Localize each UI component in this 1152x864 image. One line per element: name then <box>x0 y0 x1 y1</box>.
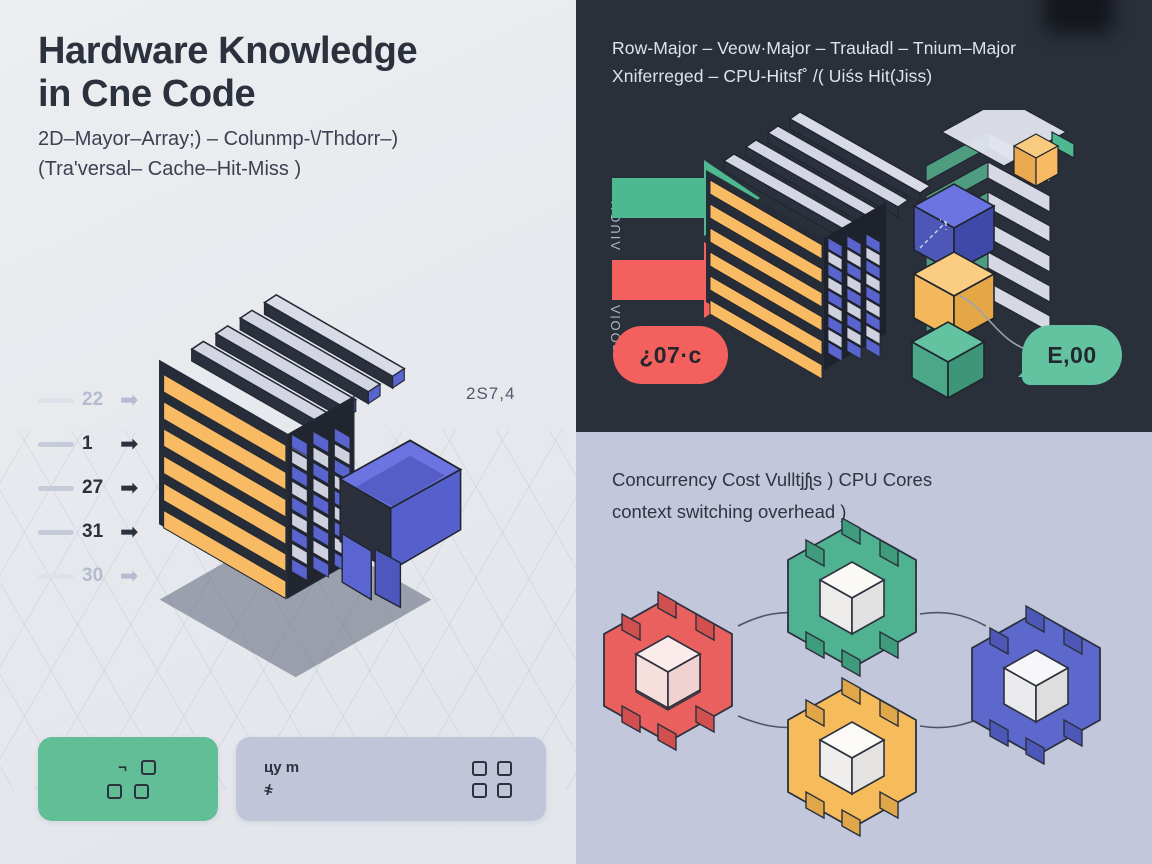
pill-box-icon <box>141 760 156 775</box>
pill-box-icon <box>472 761 487 776</box>
dashed-pointer <box>912 200 982 270</box>
right-arrow-icon: ➡ <box>120 389 138 411</box>
left-panel: Hardware Knowledge in Cne Code 2D–Mayor–… <box>0 0 576 864</box>
page-subtitle: 2D–Mayor–Array;) – Colunmp-\/Thdorr–) (T… <box>38 125 538 184</box>
core-green <box>788 518 916 676</box>
orange-pointer-block <box>1000 122 1090 202</box>
dark-panel: Row-Major – Veow·Major – Trauƚadl – Tniu… <box>576 0 1152 432</box>
right-arrow-icon: ➡ <box>120 477 138 499</box>
dark-panel-heading: Row-Major – Veow·Major – Trauƚadl – Tniu… <box>612 34 1132 91</box>
pill-text-glyph-1: ҂ <box>264 782 299 799</box>
row-label-4: 30 ➡ <box>38 554 218 598</box>
title-block: Hardware Knowledge in Cne Code 2D–Mayor–… <box>38 30 538 184</box>
row-index: 27 <box>82 477 112 499</box>
stack-side-number: 2S7,4 <box>466 384 515 404</box>
right-arrow-icon: ➡ <box>120 565 138 587</box>
row-index: 30 <box>82 565 112 587</box>
row-label-list: 22 ➡ 1 ➡ 27 ➡ 31 ➡ 30 ➡ <box>38 378 218 598</box>
row-label-0: 22 ➡ <box>38 378 218 422</box>
row-index: 1 <box>82 433 112 455</box>
row-label-1: 1 ➡ <box>38 422 218 466</box>
row-dash <box>38 530 74 535</box>
pill-box-icon <box>497 761 512 776</box>
core-yellow <box>788 678 916 836</box>
miss-badge[interactable]: ¿07·c <box>613 326 728 384</box>
core-blue <box>972 606 1100 764</box>
right-arrow-icon: ➡ <box>120 433 138 455</box>
pill-glyph-0: ¬ <box>118 759 127 776</box>
lavender-panel: Concurrency Cost Vulltjʃʅs ) CPU Cores c… <box>576 432 1152 864</box>
row-dash <box>38 486 74 491</box>
pill-box-icon <box>134 784 149 799</box>
row-index: 22 <box>82 389 112 411</box>
row-dash <box>38 442 74 447</box>
pill-text-glyph-0: цу m <box>264 759 299 776</box>
row-label-3: 31 ➡ <box>38 510 218 554</box>
row-dash <box>38 574 74 579</box>
legend-pill-row: ¬ цу m ҂ <box>38 737 546 821</box>
page-title: Hardware Knowledge in Cne Code <box>38 30 538 115</box>
infographic-canvas: Hardware Knowledge in Cne Code 2D–Mayor–… <box>0 0 1152 864</box>
lavender-legend-pill[interactable]: цу m ҂ <box>236 737 546 821</box>
pill-box-icon <box>472 783 487 798</box>
blue-cache-block <box>340 440 460 607</box>
cpu-core-cluster-diagram <box>576 518 1152 864</box>
corner-blur-blob <box>1044 0 1114 34</box>
right-arrow-icon: ➡ <box>120 521 138 543</box>
row-dash <box>38 398 74 403</box>
row-index: 31 <box>82 521 112 543</box>
hit-badge[interactable]: Ε,00 <box>1022 325 1122 385</box>
core-red <box>604 592 732 750</box>
green-legend-pill[interactable]: ¬ <box>38 737 218 821</box>
row-label-2: 27 ➡ <box>38 466 218 510</box>
pill-box-icon <box>497 783 512 798</box>
pill-box-icon <box>107 784 122 799</box>
